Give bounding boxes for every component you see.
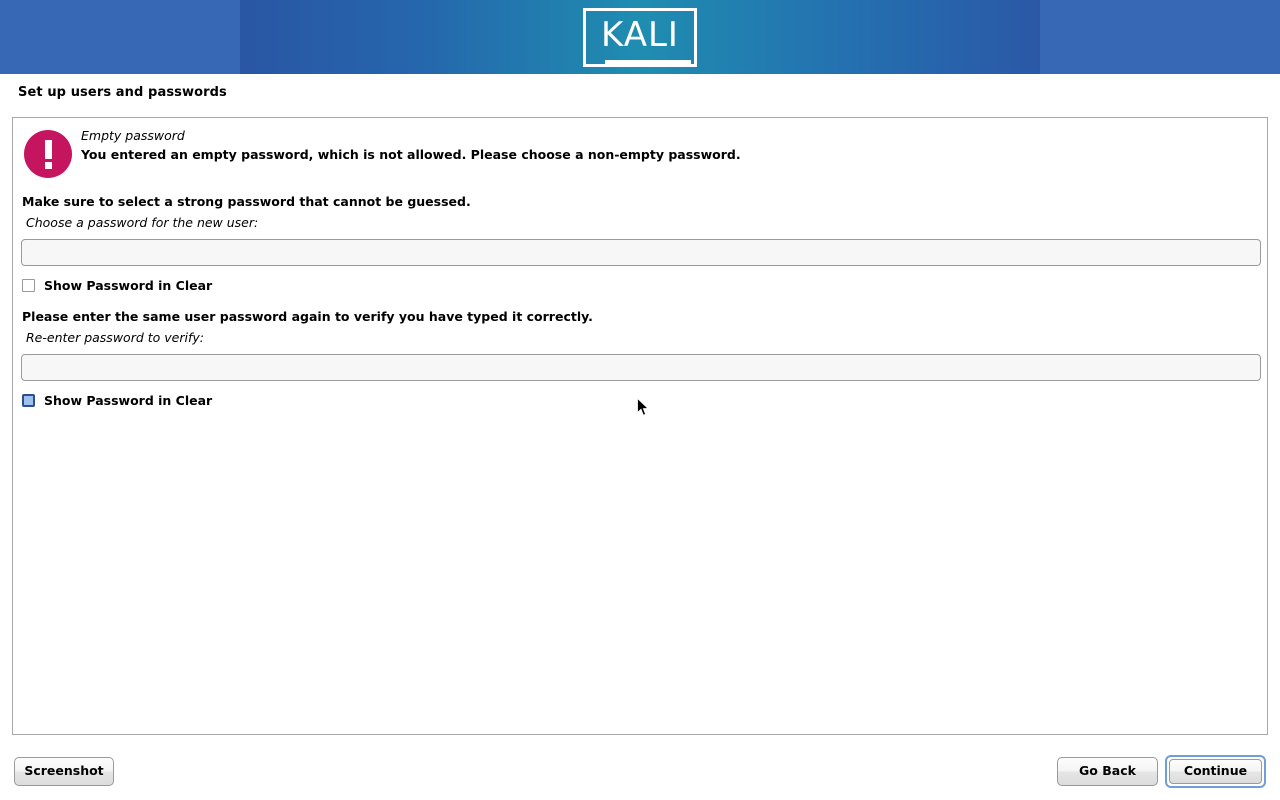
continue-button[interactable]: Continue — [1165, 755, 1266, 788]
error-block: Empty password You entered an empty pass… — [13, 118, 1267, 190]
show-password-checkbox-2[interactable] — [22, 394, 35, 407]
verify-password-input[interactable] — [21, 354, 1261, 381]
show-password-checkbox-label-2: Show Password in Clear — [44, 393, 212, 408]
verify-hint: Please enter the same user password agai… — [22, 309, 593, 324]
password-input[interactable] — [21, 239, 1261, 266]
exclamation-dot — [45, 162, 52, 169]
kali-logo-text: KALI — [583, 12, 697, 58]
password-hint: Make sure to select a strong password th… — [22, 194, 471, 209]
show-password-checkbox-1[interactable] — [22, 279, 35, 292]
exclamation-bar — [45, 140, 52, 159]
page-title: Set up users and passwords — [18, 85, 227, 100]
go-back-button[interactable]: Go Back — [1057, 757, 1158, 786]
show-password-checkbox-row-1[interactable]: Show Password in Clear — [22, 276, 212, 294]
screenshot-button[interactable]: Screenshot — [14, 757, 114, 786]
content-panel: Empty password You entered an empty pass… — [12, 117, 1268, 735]
verify-field-label: Re-enter password to verify: — [26, 330, 204, 345]
installer-banner: KALI — [0, 0, 1280, 74]
error-title: Empty password — [81, 128, 185, 143]
show-password-checkbox-label-1: Show Password in Clear — [44, 278, 212, 293]
show-password-checkbox-row-2[interactable]: Show Password in Clear — [22, 391, 212, 409]
kali-logo: KALI — [583, 8, 697, 67]
password-field-label: Choose a password for the new user: — [26, 215, 258, 230]
continue-button-label: Continue — [1169, 759, 1262, 784]
error-message: You entered an empty password, which is … — [81, 147, 741, 162]
error-exclamation-icon — [24, 130, 72, 178]
kali-logo-notch — [583, 63, 600, 67]
kali-logo-underline — [605, 60, 691, 64]
